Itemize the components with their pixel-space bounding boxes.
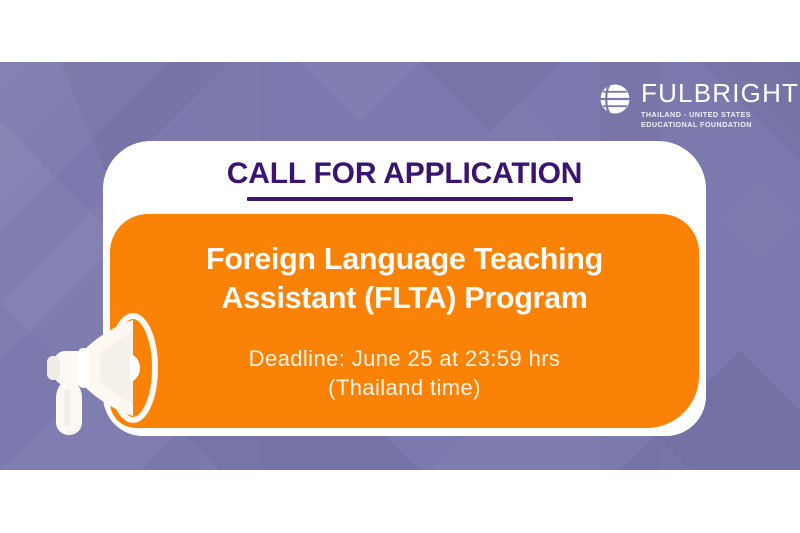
program-title-line-1: Foreign Language Teaching bbox=[110, 240, 699, 279]
call-for-application-heading: CALL FOR APPLICATION bbox=[227, 158, 582, 195]
program-title-line-2: Assistant (FLTA) Program bbox=[110, 279, 699, 318]
program-deadline: Deadline: June 25 at 23:59 hrs (Thailand… bbox=[110, 345, 699, 402]
fulbright-logo: FULBRIGHT THAILAND - UNITED STATES EDUCA… bbox=[598, 80, 780, 138]
fulbright-logo-subtitle: THAILAND - UNITED STATES EDUCATIONAL FOU… bbox=[641, 110, 799, 131]
program-title: Foreign Language Teaching Assistant (FLT… bbox=[110, 240, 699, 318]
fulbright-subtitle-line-2: EDUCATIONAL FOUNDATION bbox=[641, 120, 799, 130]
promotional-banner: FULBRIGHT THAILAND - UNITED STATES EDUCA… bbox=[0, 0, 800, 533]
headline-container: CALL FOR APPLICATION bbox=[103, 158, 706, 195]
deadline-line-1: Deadline: June 25 at 23:59 hrs bbox=[110, 345, 699, 374]
fulbright-globe-icon bbox=[598, 82, 632, 116]
deadline-line-2: (Thailand time) bbox=[110, 374, 699, 403]
fulbright-wordmark: FULBRIGHT bbox=[641, 80, 799, 106]
megaphone-icon bbox=[34, 306, 170, 438]
fulbright-subtitle-line-1: THAILAND - UNITED STATES bbox=[641, 110, 799, 120]
headline-underline bbox=[247, 197, 573, 201]
fulbright-logo-text: FULBRIGHT THAILAND - UNITED STATES EDUCA… bbox=[641, 80, 799, 131]
